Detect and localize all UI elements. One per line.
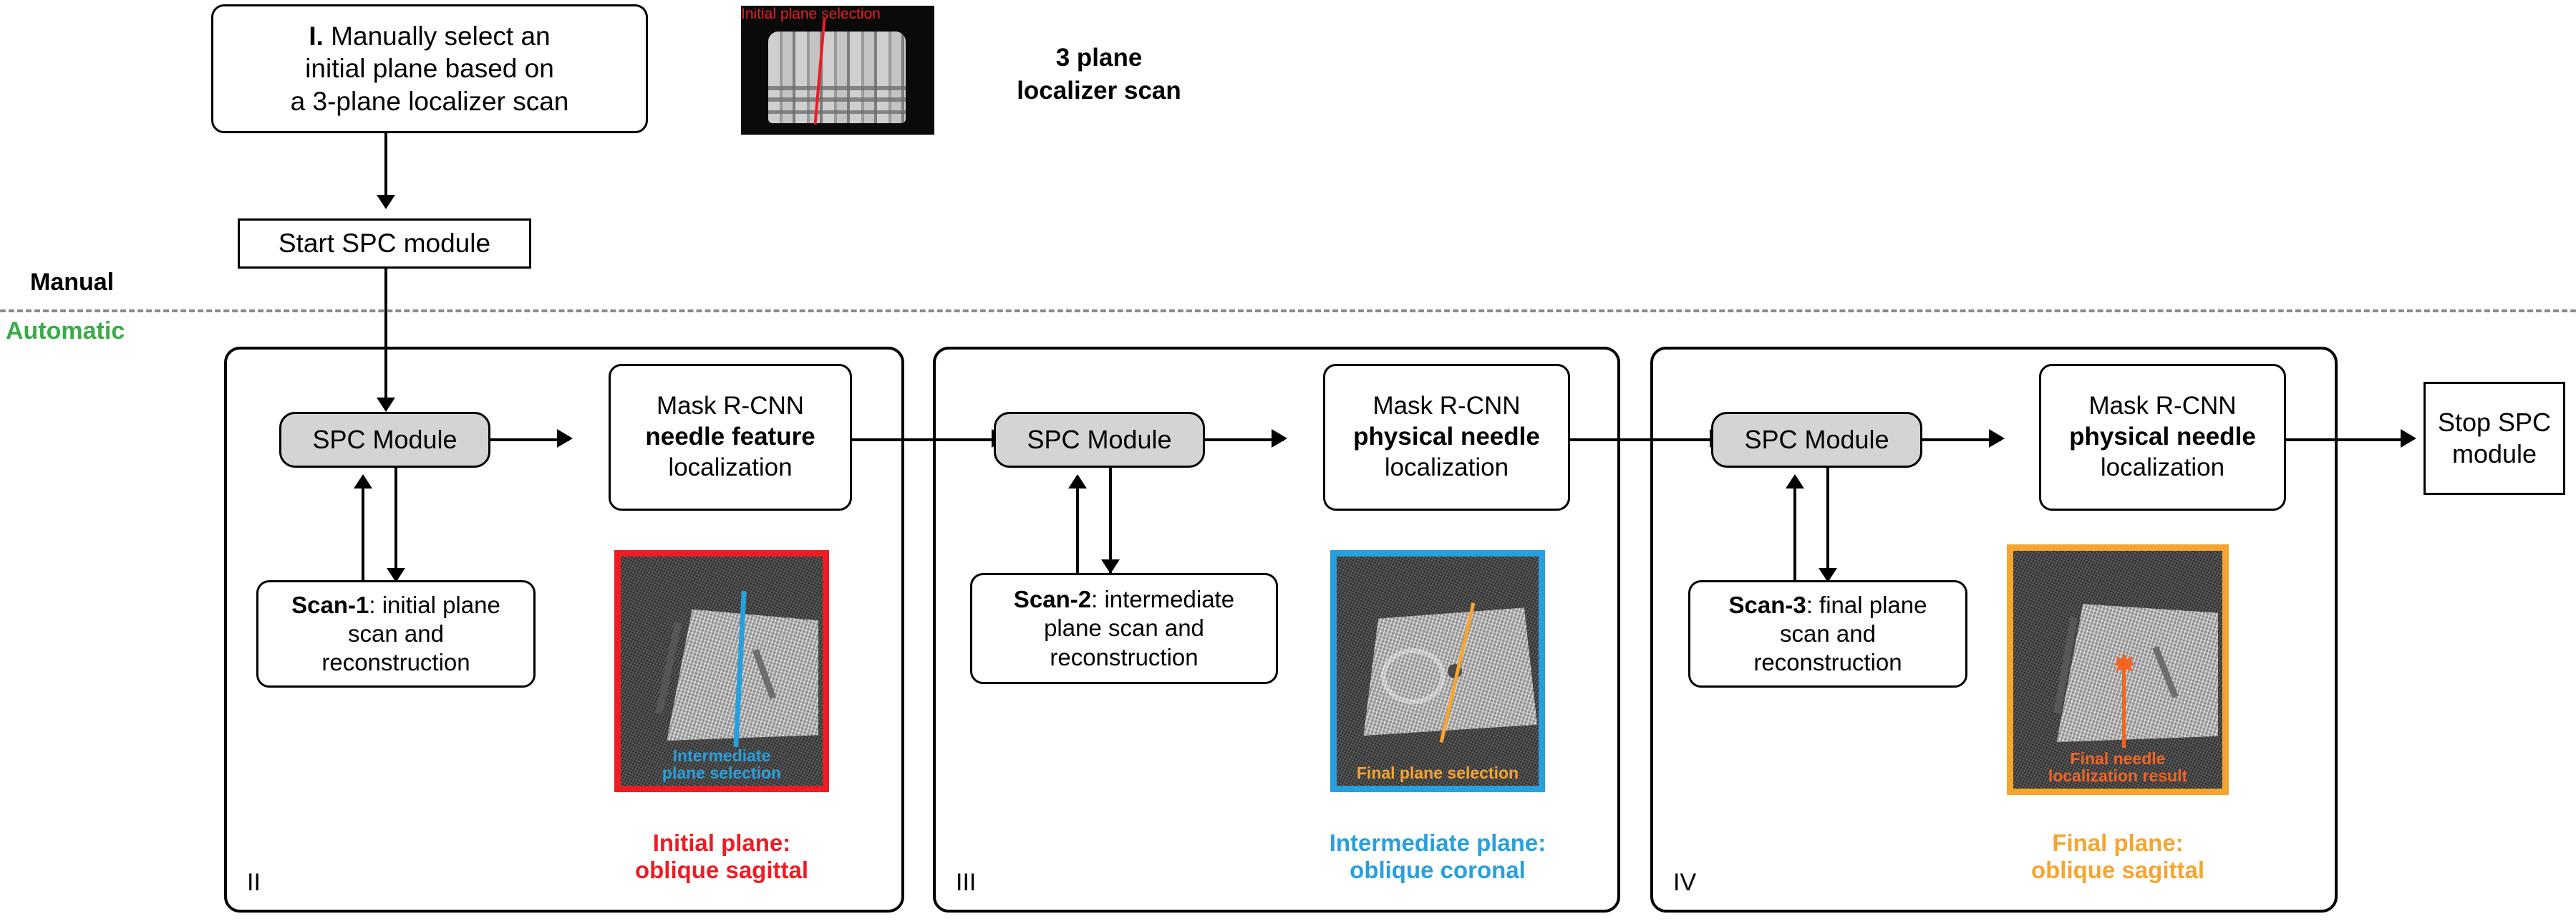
localizer-caption: Initial plane selection (741, 6, 934, 23)
maskrcnn-2-line3: localization (645, 453, 815, 483)
automatic-label: Automatic (6, 317, 125, 345)
panel-3-caption: Intermediate plane: oblique coronal (1294, 829, 1581, 884)
panel-4-image-caption-line2: localization result (2013, 767, 2222, 784)
spc-module-2-label: SPC Module (305, 424, 464, 456)
step-1-line3: a 3-plane localizer scan (291, 85, 569, 117)
arrowhead-spc3-to-maskrcnn3 (1272, 429, 1287, 448)
maskrcnn-box-2: Mask R-CNN needle feature localization (609, 364, 852, 511)
maskrcnn-box-4: Mask R-CNN physical needle localization (2039, 364, 2286, 511)
step-1-box: I. Manually select an initial plane base… (211, 4, 648, 133)
panel-2-scan-image: Intermediate plane selection (614, 550, 829, 792)
panel-2-image-caption-line1: Intermediate (621, 747, 823, 764)
spc-module-3-label: SPC Module (1020, 424, 1178, 456)
maskrcnn-box-3: Mask R-CNN physical needle localization (1323, 364, 1570, 511)
start-spc-module-label: Start SPC module (271, 227, 498, 259)
panel-4-caption-line2: oblique sagittal (1992, 857, 2243, 884)
maskrcnn-2-line1: Mask R-CNN (645, 391, 815, 422)
panel-4-image-caption: Final needle localization result (2013, 750, 2222, 784)
arrowhead-scan1-up (354, 474, 372, 489)
localizer-title-line2: localizer scan (981, 74, 1217, 107)
connector-scan2-up (1076, 487, 1079, 579)
scan-1-line3: reconstruction (291, 648, 500, 677)
scan-1-label-rest: : initial plane (369, 592, 500, 618)
manual-label: Manual (30, 269, 114, 297)
panel-2-image-caption: Intermediate plane selection (621, 747, 823, 781)
maskrcnn-4-line1: Mask R-CNN (2069, 391, 2256, 422)
localizer-title-line1: 3 plane (981, 42, 1217, 74)
localizer-caption-text: Initial plane selection (741, 6, 881, 22)
connector-scan1-up (362, 487, 364, 587)
localizer-stripe-3 (768, 110, 906, 114)
connector-step1-to-start (384, 133, 387, 201)
panel-2-image-caption-line2: plane selection (621, 764, 823, 781)
panel-4-numeral: IV (1673, 870, 1696, 895)
maskrcnn-4-line3: localization (2069, 453, 2256, 483)
scan-1-line2: scan and (291, 620, 500, 648)
spc-module-3: SPC Module (994, 412, 1205, 468)
scan-2-line2: plane scan and (1014, 614, 1234, 643)
start-spc-module-box: Start SPC module (238, 218, 531, 269)
maskrcnn-3-line3: localization (1353, 453, 1540, 483)
localizer-stripe-1 (768, 86, 906, 90)
connector-spc2-down (394, 468, 397, 582)
scan-2-line3: reconstruction (1014, 643, 1234, 672)
panel-2-caption-line2: oblique sagittal (607, 857, 836, 884)
panel-3-image-caption-line1: Final plane selection (1337, 764, 1539, 781)
arrowhead-scan2-up (1068, 474, 1087, 489)
scan-1-box: Scan-1: initial plane scan and reconstru… (256, 580, 536, 688)
maskrcnn-2-line2: needle feature (645, 422, 815, 453)
scan-2-box: Scan-2: intermediate plane scan and reco… (970, 573, 1278, 684)
localizer-stripe-2 (768, 97, 906, 102)
panel-3-caption-line1: Intermediate plane: (1294, 829, 1581, 857)
arrowhead-spc4-to-maskrcnn4 (1989, 429, 2005, 448)
stop-spc-line2: module (2438, 438, 2551, 470)
arrowhead-step1-to-start (377, 195, 395, 209)
panel-3-caption-line2: oblique coronal (1294, 857, 1581, 884)
localizer-scan-image: Initial plane selection (741, 6, 934, 135)
panel-2-caption: Initial plane: oblique sagittal (607, 829, 836, 884)
scan-2-label-rest: : intermediate (1091, 586, 1234, 612)
panel-3-numeral: III (956, 870, 976, 895)
connector-maskrcnn4-to-stop (2286, 438, 2411, 441)
maskrcnn-3-line1: Mask R-CNN (1353, 391, 1540, 422)
connector-scan3-up (1793, 487, 1796, 587)
arrowhead-scan3-up (1786, 474, 1804, 489)
step-1-line1: Manually select an (324, 21, 551, 51)
arrowhead-spc3-down (1101, 559, 1120, 574)
panel-3-image-caption: Final plane selection (1337, 764, 1539, 781)
final-needle-marker-icon (2113, 653, 2135, 675)
scan-3-line2: scan and (1728, 620, 1927, 648)
scan-1-label: Scan-1 (291, 592, 369, 618)
scan-3-label-rest: : final plane (1806, 592, 1927, 618)
panel-3-phantom-ring (1381, 648, 1446, 704)
connector-spc4-down (1826, 468, 1829, 582)
step-1-line2: initial plane based on (291, 52, 569, 85)
step-1-numeral: I. (309, 21, 324, 51)
panel-4-caption: Final plane: oblique sagittal (1992, 829, 2243, 884)
localizer-phantom (768, 32, 906, 123)
panel-4-scan-image: Final needle localization result (2007, 544, 2229, 795)
maskrcnn-3-line2: physical needle (1353, 422, 1540, 453)
arrowhead-spc2-to-maskrcnn2 (557, 429, 573, 448)
panel-4-image-caption-line1: Final needle (2013, 750, 2222, 767)
spc-module-2: SPC Module (279, 412, 490, 468)
spc-module-4: SPC Module (1711, 412, 1922, 468)
manual-automatic-divider (0, 309, 2576, 312)
panel-3-scan-image: Final plane selection (1330, 550, 1545, 792)
stop-spc-line1: Stop SPC (2438, 407, 2551, 438)
scan-2-label: Scan-2 (1014, 586, 1091, 612)
connector-spc3-down (1109, 468, 1112, 574)
maskrcnn-4-line2: physical needle (2069, 422, 2256, 453)
final-needle-stem (2122, 665, 2126, 748)
panel-2-caption-line1: Initial plane: (607, 829, 836, 857)
panel-2-numeral: II (247, 870, 261, 895)
spc-module-4-label: SPC Module (1737, 424, 1896, 456)
scan-3-label: Scan-3 (1728, 592, 1806, 618)
diagram-canvas: I. Manually select an initial plane base… (0, 0, 2576, 924)
localizer-title: 3 plane localizer scan (981, 42, 1217, 107)
scan-3-line3: reconstruction (1728, 648, 1927, 677)
stop-spc-module-box: Stop SPC module (2424, 382, 2565, 495)
arrowhead-maskrcnn4-to-stop (2401, 429, 2416, 448)
scan-3-box: Scan-3: final plane scan and reconstruct… (1688, 580, 1967, 688)
panel-4-caption-line1: Final plane: (1992, 829, 2243, 857)
